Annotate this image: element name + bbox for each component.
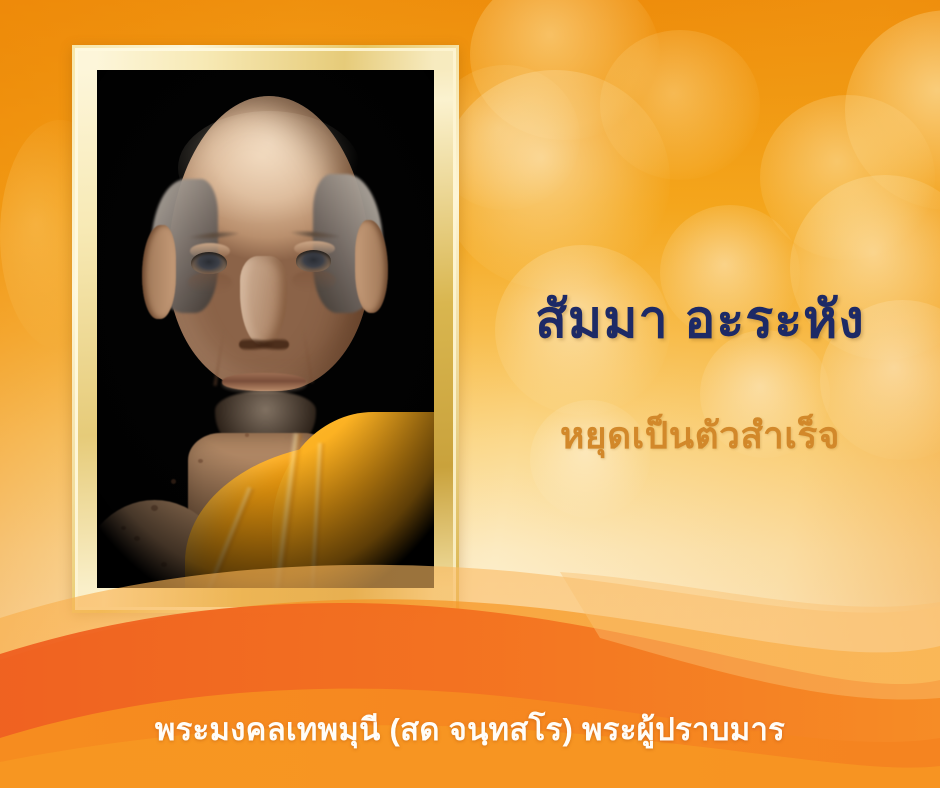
frame-mat — [78, 51, 453, 607]
monk-portrait-photo — [97, 70, 434, 588]
portrait-vignette — [97, 70, 434, 588]
portrait-frame — [72, 45, 459, 613]
frame-outer-line — [75, 48, 456, 610]
poster-canvas: สัมมา อะระหัง หยุดเป็นตัวสำเร็จ — [0, 0, 940, 788]
page-headline: สัมมา อะระหัง — [470, 292, 930, 349]
page-caption: พระมงคลเทพมุนี (สด จนฺทสโร) พระผู้ปราบมา… — [0, 704, 940, 754]
page-subheadline: หยุดเป็นตัวสำเร็จ — [470, 415, 930, 458]
